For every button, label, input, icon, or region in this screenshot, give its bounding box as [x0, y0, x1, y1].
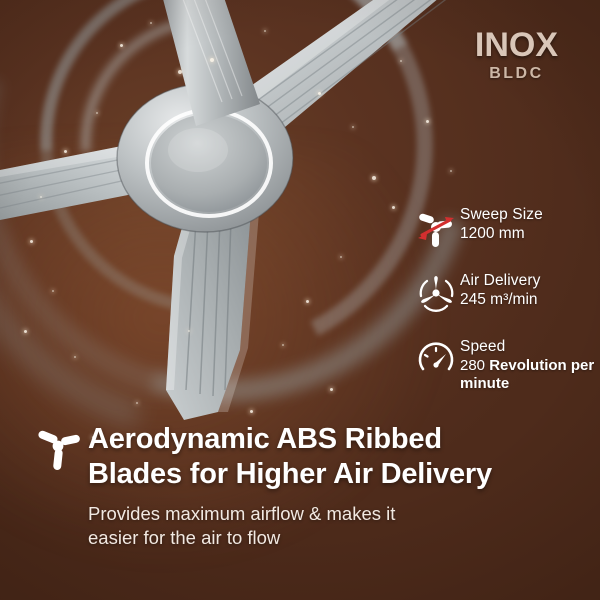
spec-value-number: 280 — [460, 357, 489, 374]
specification-list: Sweep Size 1200 mm — [412, 205, 598, 415]
spec-item-air-delivery: Air Delivery 245 m³/min — [412, 271, 598, 315]
spec-label: Air Delivery — [460, 272, 598, 291]
speedometer-gauge-icon — [412, 337, 460, 381]
headline-line-1: Aerodynamic ABS Ribbed — [88, 423, 442, 455]
subtext-line-2: easier for the air to flow — [88, 526, 556, 550]
feature-subtext: Provides maximum airflow & makes it easi… — [88, 502, 556, 551]
three-blade-fan-icon — [36, 420, 88, 472]
spec-value: 1200 mm — [460, 225, 598, 244]
spec-item-sweep-size: Sweep Size 1200 mm — [412, 205, 598, 249]
propeller-air-delivery-icon — [412, 271, 460, 315]
fan-sweep-arrow-icon — [412, 205, 460, 249]
headline-line-2: Blades for Higher Air Delivery — [88, 458, 492, 490]
brand-logo-tagline: BLDC — [475, 66, 558, 82]
spec-item-speed: Speed 280 Revolution per minute — [412, 337, 598, 393]
subtext-line-1: Provides maximum airflow & makes it — [88, 503, 395, 524]
feature-headline-block: Aerodynamic ABS Ribbed Blades for Higher… — [36, 420, 556, 551]
product-feature-banner: INOX BLDC — [0, 0, 600, 600]
brand-logo-name: INOX — [475, 28, 558, 62]
spec-value: 280 Revolution per minute — [460, 357, 598, 393]
brand-logo: INOX BLDC — [475, 28, 558, 82]
feature-headline: Aerodynamic ABS Ribbed Blades for Higher… — [88, 422, 556, 493]
spec-label: Sweep Size — [460, 206, 598, 225]
spec-value: 245 m³/min — [460, 291, 598, 310]
spec-label: Speed — [460, 338, 598, 357]
